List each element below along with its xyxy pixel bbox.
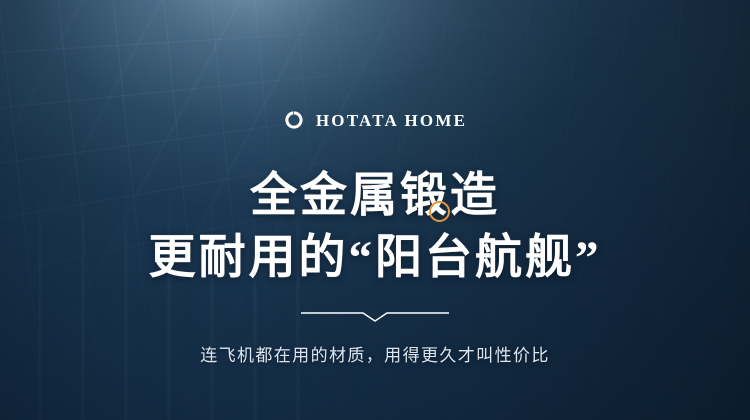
brand-name: HOTATA HOME — [316, 112, 467, 129]
v-notch-divider — [301, 311, 449, 323]
headline-line-1: 全金属锻造 — [149, 166, 602, 227]
subtitle-text: 连飞机都在用的材质，用得更久才叫性价比 — [200, 347, 550, 364]
banner-content: HOTATA HOME 全金属锻造 更耐用的“阳台航舰” 连飞机都在用的材质，用… — [0, 0, 750, 420]
headline-block: 全金属锻造 更耐用的“阳台航舰” — [149, 166, 602, 289]
hotata-ring-logo-icon — [283, 109, 305, 131]
headline-line-1-text: 全金属锻造 — [250, 170, 500, 222]
brand-lockup: HOTATA HOME — [283, 105, 467, 135]
promo-banner: HOTATA HOME 全金属锻造 更耐用的“阳台航舰” 连飞机都在用的材质，用… — [0, 0, 750, 420]
headline-line-2: 更耐用的“阳台航舰” — [149, 228, 602, 289]
